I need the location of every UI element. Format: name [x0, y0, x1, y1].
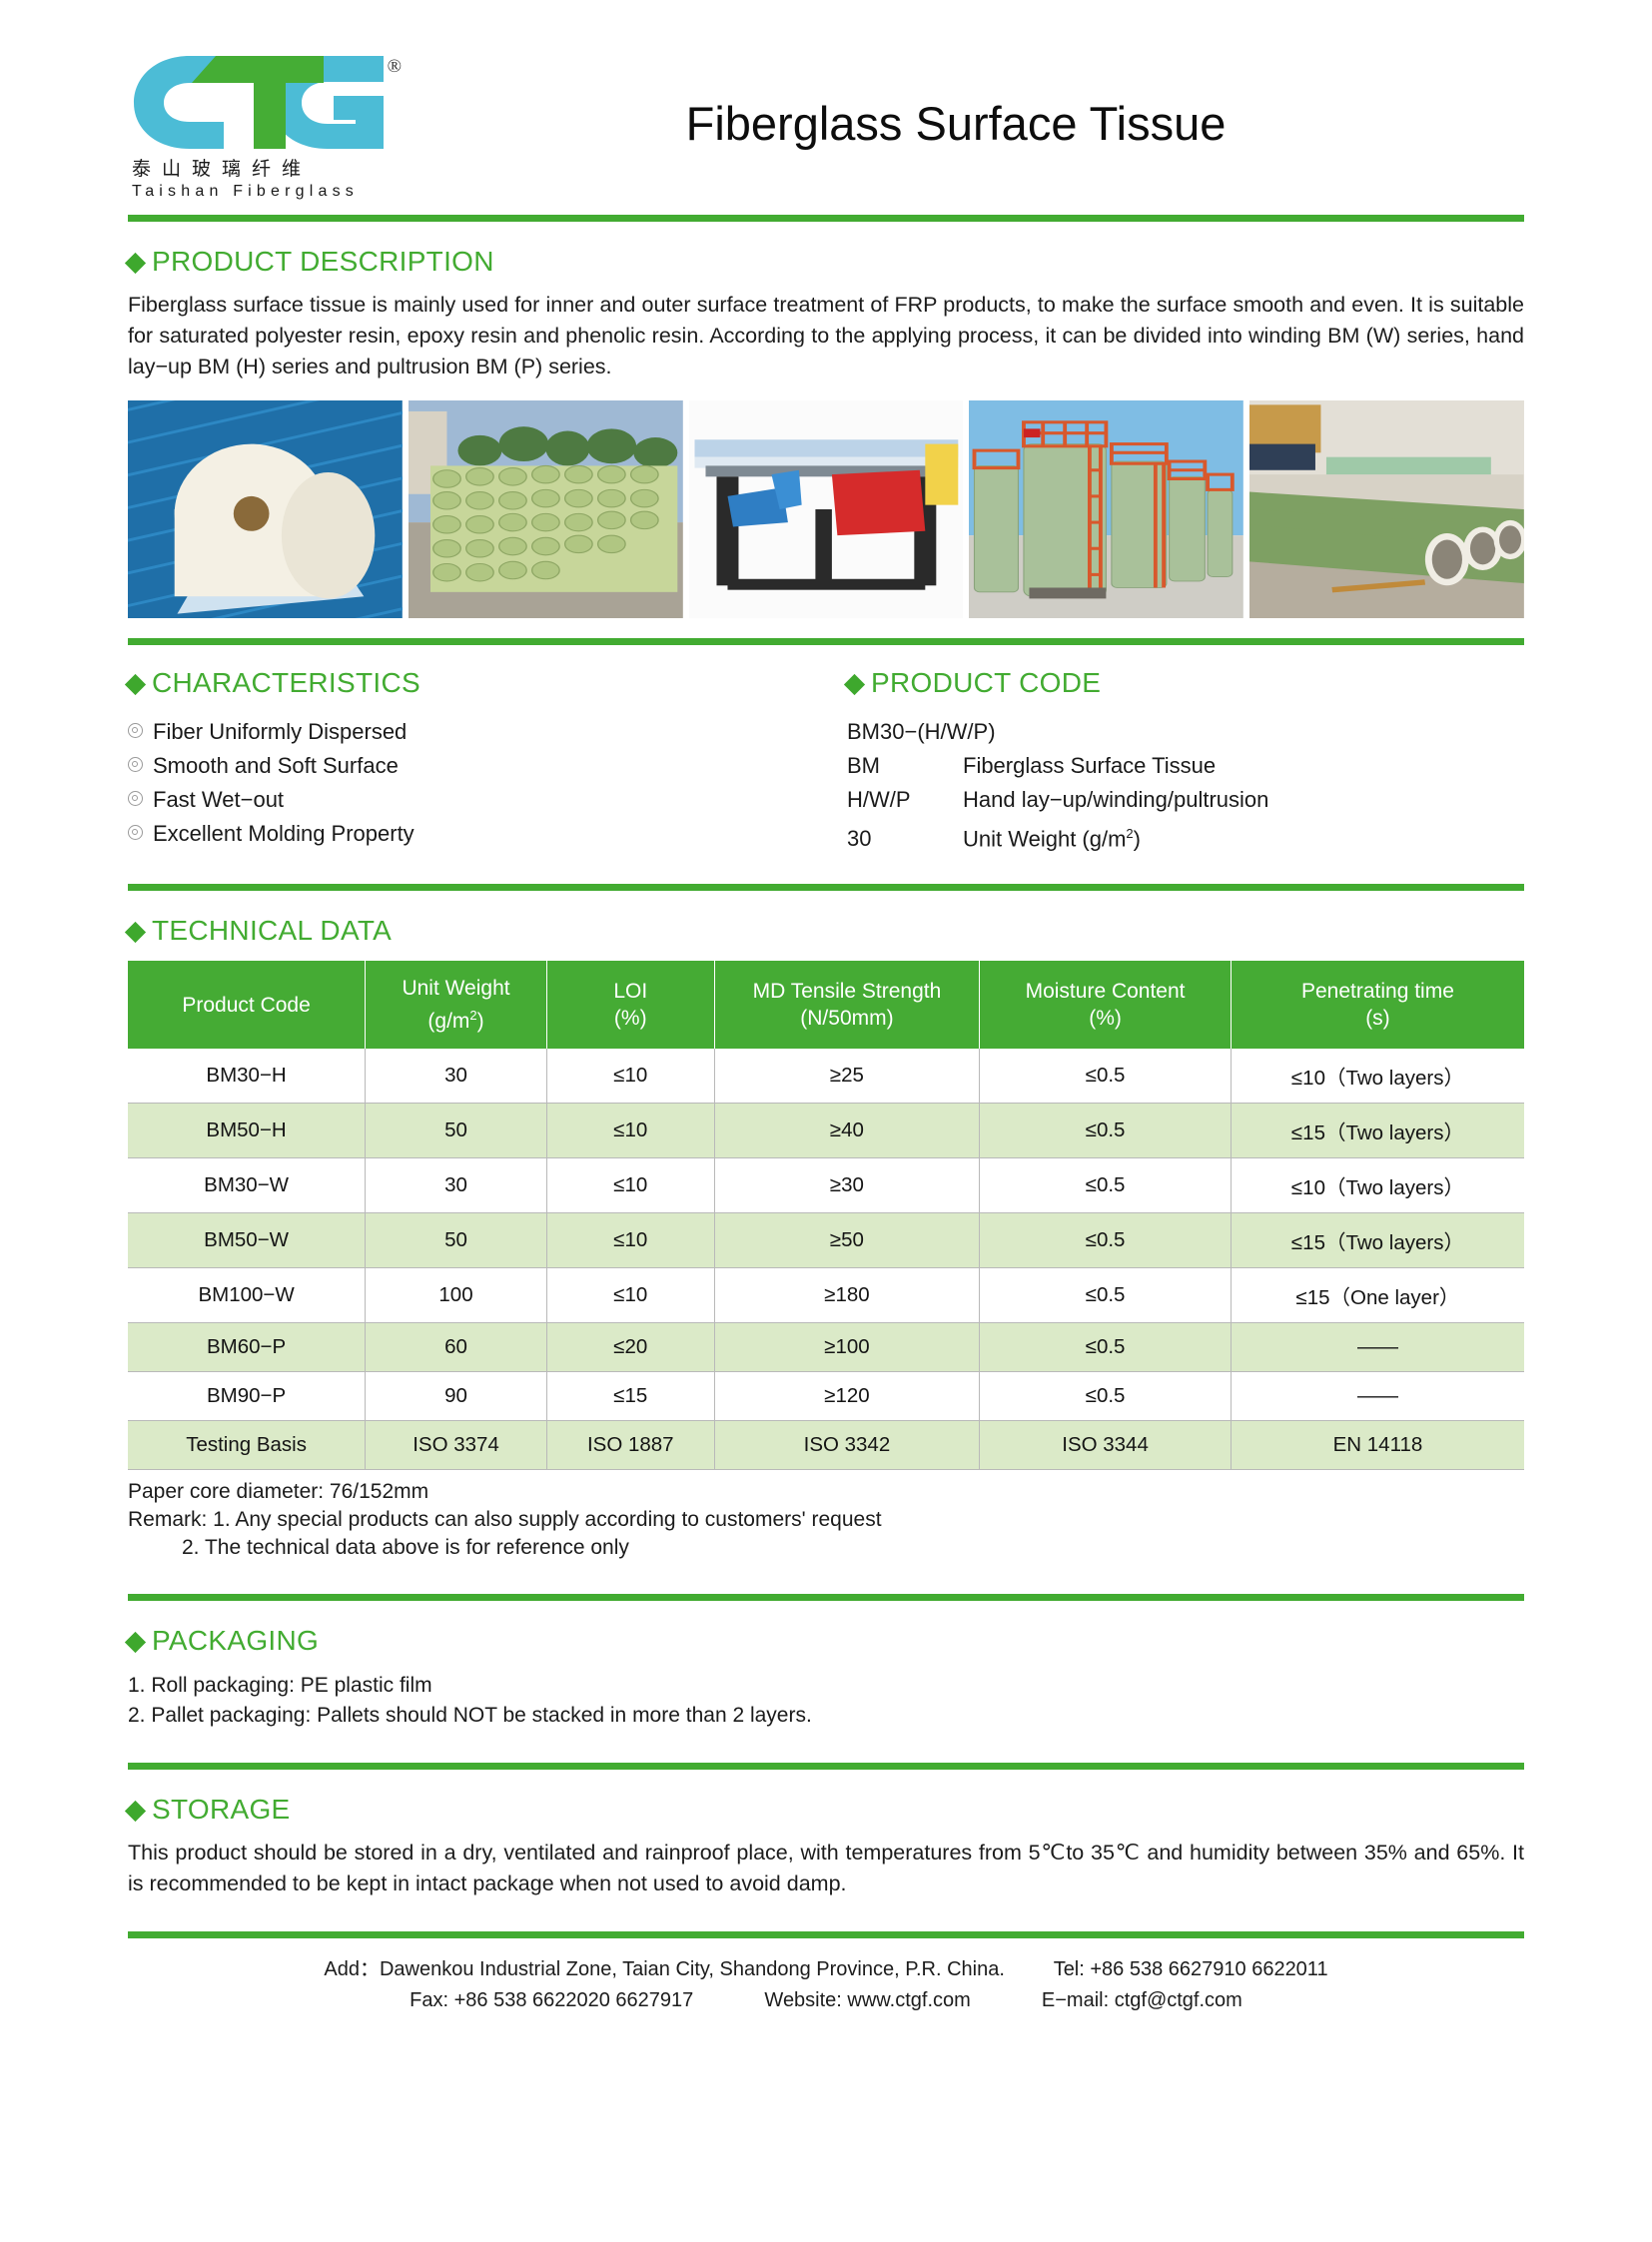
photo-fiberglass-tissue-roll [128, 400, 403, 618]
table-row: BM30−(H/W/P) [847, 715, 1268, 749]
table-row-testing-basis: Testing Basis ISO 3374 ISO 1887 ISO 3342… [128, 1421, 1524, 1470]
photo-large-frp-pipes-warehouse [1249, 400, 1524, 618]
cell-testing-basis-penetrating: EN 14118 [1231, 1421, 1524, 1470]
cell-penetrating: —— [1231, 1372, 1524, 1421]
product-code-table: BM30−(H/W/P) BM Fiberglass Surface Tissu… [847, 715, 1268, 856]
characteristics-list: Fiber Uniformly Dispersed Smooth and Sof… [128, 715, 847, 851]
page-footer: Add：Dawenkou Industrial Zone, Taian City… [128, 1954, 1524, 2016]
cell-moisture: ≤0.5 [980, 1049, 1232, 1104]
cell-penetrating: ≤15（One layer） [1231, 1268, 1524, 1323]
page-title: Fiberglass Surface Tissue [427, 0, 1524, 151]
section-heading-storage: STORAGE [128, 1794, 1524, 1826]
characteristics-and-code-row: CHARACTERISTICS Fiber Uniformly Disperse… [128, 667, 1524, 856]
section-heading-characteristics: CHARACTERISTICS [128, 667, 847, 699]
double-circle-bullet-icon [128, 723, 143, 738]
footer-line-1: Add：Dawenkou Industrial Zone, Taian City… [128, 1954, 1524, 1985]
list-item: 2. Pallet packaging: Pallets should NOT … [128, 1701, 1524, 1731]
code-value: Fiberglass Surface Tissue [963, 749, 1268, 783]
footer-fax: Fax: +86 538 6622020 6627917 [410, 1989, 693, 2011]
photo-green-frp-pipes-stack [409, 400, 683, 618]
table-row: BM30−W 30 ≤10 ≥30 ≤0.5 ≤10（Two layers） [128, 1158, 1524, 1213]
page-header: ® 泰山玻璃纤维 Taishan Fiberglass Fiberglass S… [128, 0, 1524, 215]
cell-loi: ≤10 [546, 1158, 714, 1213]
cell-product-code: BM50−H [128, 1104, 366, 1158]
characteristic-label: Fiber Uniformly Dispersed [153, 715, 407, 749]
footer-email[interactable]: E−mail: ctgf@ctgf.com [1042, 1989, 1242, 2011]
diamond-bullet-icon [125, 1632, 146, 1653]
cell-penetrating: ≤10（Two layers） [1231, 1049, 1524, 1104]
table-row: BM50−W 50 ≤10 ≥50 ≤0.5 ≤15（Two layers） [128, 1213, 1524, 1268]
cell-unit-weight: 100 [366, 1268, 547, 1323]
section-title-text: TECHNICAL DATA [152, 915, 392, 947]
characteristic-label: Fast Wet−out [153, 783, 284, 817]
divider-header [128, 215, 1524, 222]
section-title-text: STORAGE [152, 1794, 291, 1826]
characteristics-column: CHARACTERISTICS Fiber Uniformly Disperse… [128, 667, 847, 856]
superscript: 2 [1126, 826, 1133, 841]
cell-tensile: ≥30 [714, 1158, 980, 1213]
code-key: BM [847, 749, 963, 783]
technical-data-notes: Paper core diameter: 76/152mm Remark: 1.… [128, 1478, 1524, 1562]
logo-english-name: Taishan Fiberglass [128, 183, 427, 201]
cell-unit-weight: 30 [366, 1158, 547, 1213]
divider-after-technical-data [128, 1594, 1524, 1601]
footer-tel: Tel: +86 538 6627910 6622011 [1054, 1958, 1328, 1980]
column-header-moisture-content: Moisture Content (%) [980, 961, 1232, 1049]
product-code-pattern: BM30−(H/W/P) [847, 715, 1268, 749]
cell-testing-basis-tensile: ISO 3342 [714, 1421, 980, 1470]
company-logo: ® 泰山玻璃纤维 Taishan Fiberglass [128, 0, 427, 201]
cell-moisture: ≤0.5 [980, 1323, 1232, 1372]
cell-unit-weight: 50 [366, 1213, 547, 1268]
divider-after-packaging [128, 1763, 1524, 1770]
table-row: BM30−H 30 ≤10 ≥25 ≤0.5 ≤10（Two layers） [128, 1049, 1524, 1104]
characteristic-label: Smooth and Soft Surface [153, 749, 399, 783]
cell-tensile: ≥25 [714, 1049, 980, 1104]
cell-loi: ≤10 [546, 1104, 714, 1158]
cell-testing-basis-moisture: ISO 3344 [980, 1421, 1232, 1470]
cell-penetrating: ≤15（Two layers） [1231, 1213, 1524, 1268]
section-heading-product-code: PRODUCT CODE [847, 667, 1524, 699]
cell-moisture: ≤0.5 [980, 1268, 1232, 1323]
diamond-bullet-icon [125, 252, 146, 273]
cell-unit-weight: 50 [366, 1104, 547, 1158]
code-value-tail: ) [1134, 826, 1141, 851]
datasheet-page: ® 泰山玻璃纤维 Taishan Fiberglass Fiberglass S… [0, 0, 1652, 2242]
note-remark-2: 2. The technical data above is for refer… [128, 1534, 1524, 1562]
section-heading-packaging: PACKAGING [128, 1625, 1524, 1657]
cell-testing-basis-label: Testing Basis [128, 1421, 366, 1470]
cell-product-code: BM30−H [128, 1049, 366, 1104]
diamond-bullet-icon [125, 673, 146, 694]
cell-moisture: ≤0.5 [980, 1158, 1232, 1213]
section-title-text: PACKAGING [152, 1625, 319, 1657]
cell-unit-weight: 30 [366, 1049, 547, 1104]
footer-website[interactable]: Website: www.ctgf.com [764, 1989, 970, 2011]
cell-tensile: ≥180 [714, 1268, 980, 1323]
photo-frp-storage-tanks [969, 400, 1243, 618]
cell-product-code: BM30−W [128, 1158, 366, 1213]
divider-after-photos [128, 638, 1524, 645]
footer-address: Add：Dawenkou Industrial Zone, Taian City… [324, 1958, 1005, 1980]
double-circle-bullet-icon [128, 791, 143, 806]
list-item: Fast Wet−out [128, 783, 847, 817]
product-code-column: PRODUCT CODE BM30−(H/W/P) BM Fiberglass … [847, 667, 1524, 856]
double-circle-bullet-icon [128, 825, 143, 840]
cell-penetrating: ≤15（Two layers） [1231, 1104, 1524, 1158]
code-key: 30 [847, 817, 963, 856]
list-item: Excellent Molding Property [128, 817, 847, 851]
code-key: H/W/P [847, 783, 963, 817]
cell-unit-weight: 60 [366, 1323, 547, 1372]
technical-data-table: Product Code Unit Weight (g/m2) LOI (%) … [128, 961, 1524, 1470]
logo-chinese-name: 泰山玻璃纤维 [128, 154, 427, 181]
section-heading-technical-data: TECHNICAL DATA [128, 915, 1524, 947]
cell-loi: ≤10 [546, 1049, 714, 1104]
cell-product-code: BM50−W [128, 1213, 366, 1268]
registered-trademark-icon: ® [388, 56, 402, 78]
cell-moisture: ≤0.5 [980, 1372, 1232, 1421]
cell-unit-weight: 90 [366, 1372, 547, 1421]
table-row: BM90−P 90 ≤15 ≥120 ≤0.5 —— [128, 1372, 1524, 1421]
cell-tensile: ≥40 [714, 1104, 980, 1158]
note-paper-core: Paper core diameter: 76/152mm [128, 1478, 1524, 1506]
note-remark-1: Remark: 1. Any special products can also… [128, 1506, 1524, 1534]
table-row: 30 Unit Weight (g/m2) [847, 817, 1268, 856]
section-title-text: CHARACTERISTICS [152, 667, 420, 699]
column-header-loi: LOI (%) [546, 961, 714, 1049]
table-header-row: Product Code Unit Weight (g/m2) LOI (%) … [128, 961, 1524, 1049]
column-header-product-code: Product Code [128, 961, 366, 1049]
column-header-penetrating-time: Penetrating time (s) [1231, 961, 1524, 1049]
section-title-text: PRODUCT DESCRIPTION [152, 246, 494, 278]
code-value-text: Unit Weight (g/m [963, 826, 1126, 851]
table-row: BM50−H 50 ≤10 ≥40 ≤0.5 ≤15（Two layers） [128, 1104, 1524, 1158]
diamond-bullet-icon [125, 922, 146, 943]
cell-loi: ≤10 [546, 1268, 714, 1323]
characteristic-label: Excellent Molding Property [153, 817, 414, 851]
cell-tensile: ≥100 [714, 1323, 980, 1372]
cell-testing-basis-unit-weight: ISO 3374 [366, 1421, 547, 1470]
cell-penetrating: —— [1231, 1323, 1524, 1372]
packaging-list: 1. Roll packaging: PE plastic film 2. Pa… [128, 1671, 1524, 1731]
cell-penetrating: ≤10（Two layers） [1231, 1158, 1524, 1213]
cell-loi: ≤15 [546, 1372, 714, 1421]
product-photo-strip [128, 400, 1524, 618]
footer-line-2: Fax: +86 538 6622020 6627917 Website: ww… [128, 1985, 1524, 2016]
diamond-bullet-icon [844, 673, 865, 694]
cell-moisture: ≤0.5 [980, 1104, 1232, 1158]
section-title-text: PRODUCT CODE [871, 667, 1101, 699]
storage-text: This product should be stored in a dry, … [128, 1838, 1524, 1899]
column-header-unit-weight: Unit Weight (g/m2) [366, 961, 547, 1049]
divider-footer [128, 1931, 1524, 1938]
ctg-logo-icon: ® [128, 50, 408, 150]
divider-after-characteristics [128, 884, 1524, 891]
cell-product-code: BM100−W [128, 1268, 366, 1323]
cell-loi: ≤20 [546, 1323, 714, 1372]
table-row: BM60−P 60 ≤20 ≥100 ≤0.5 —— [128, 1323, 1524, 1372]
cell-testing-basis-loi: ISO 1887 [546, 1421, 714, 1470]
list-item: Smooth and Soft Surface [128, 749, 847, 783]
superscript: 2 [469, 1008, 476, 1023]
cell-tensile: ≥50 [714, 1213, 980, 1268]
cell-moisture: ≤0.5 [980, 1213, 1232, 1268]
code-value: Unit Weight (g/m2) [963, 817, 1268, 856]
column-header-md-tensile-strength: MD Tensile Strength (N/50mm) [714, 961, 980, 1049]
cell-loi: ≤10 [546, 1213, 714, 1268]
double-circle-bullet-icon [128, 757, 143, 772]
product-description-text: Fiberglass surface tissue is mainly used… [128, 290, 1524, 382]
list-item: Fiber Uniformly Dispersed [128, 715, 847, 749]
photo-frp-table-and-chairs [689, 400, 964, 618]
list-item: 1. Roll packaging: PE plastic film [128, 1671, 1524, 1701]
cell-product-code: BM90−P [128, 1372, 366, 1421]
diamond-bullet-icon [125, 1801, 146, 1822]
table-row: BM100−W 100 ≤10 ≥180 ≤0.5 ≤15（One layer） [128, 1268, 1524, 1323]
section-heading-product-description: PRODUCT DESCRIPTION [128, 246, 1524, 278]
table-row: H/W/P Hand lay−up/winding/pultrusion [847, 783, 1268, 817]
cell-product-code: BM60−P [128, 1323, 366, 1372]
cell-tensile: ≥120 [714, 1372, 980, 1421]
table-row: BM Fiberglass Surface Tissue [847, 749, 1268, 783]
code-value: Hand lay−up/winding/pultrusion [963, 783, 1268, 817]
